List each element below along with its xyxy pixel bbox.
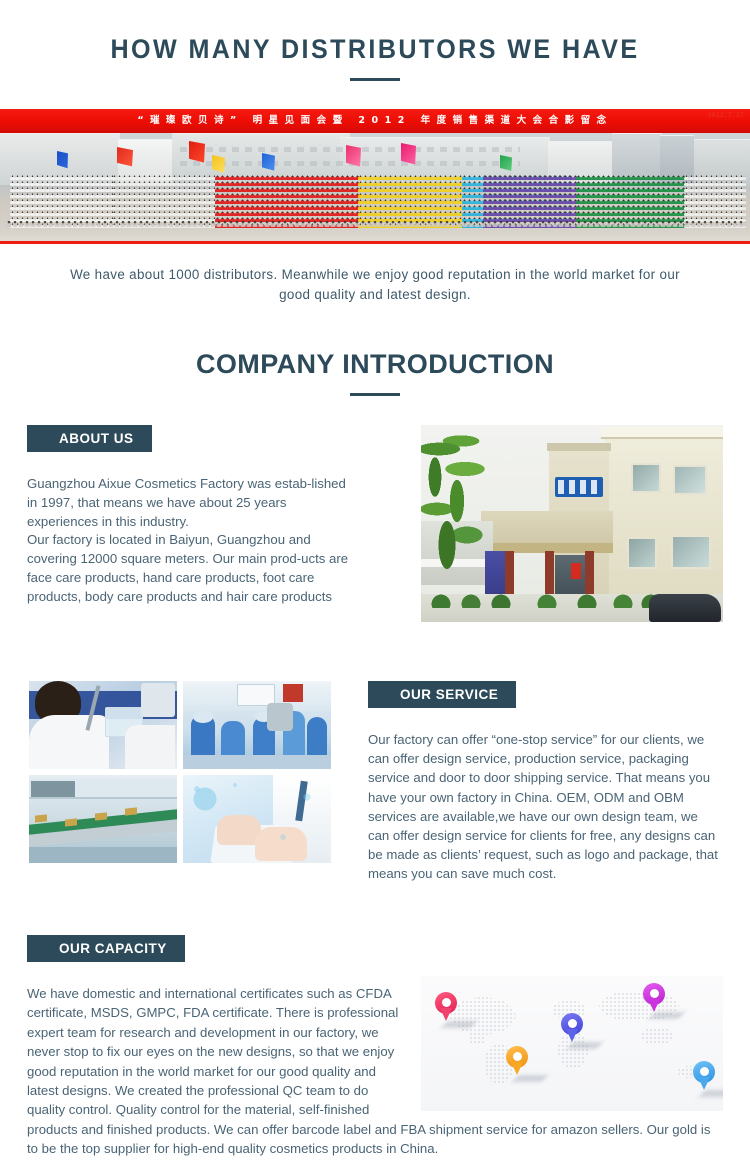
service-photo-grid [29,681,331,863]
our-service-text-column: OUR SERVICE Our factory can offer “one-s… [368,681,724,884]
banner-bottom-rule [0,241,750,244]
palm-tree [421,425,487,605]
photo-date-watermark: 2012.7.17 [708,112,744,119]
about-us-text-column: ABOUT US Guangzhou Aixue Cosmetics Facto… [0,425,400,607]
company-introduction-title: COMPANY INTRODUCTION [0,338,750,380]
our-capacity-row: OUR CAPACITY [0,935,750,1159]
our-capacity-badge: OUR CAPACITY [27,935,185,962]
distributors-group-photo: “璀璨欧贝诗” 明星见面会暨 2012 年度销售渠道大会合影留念 [0,109,750,244]
building-sign [555,477,603,497]
company-title-divider [350,393,400,396]
group-photo-image [0,133,750,244]
about-us-badge: ABOUT US [27,425,152,452]
about-us-body: Guangzhou Aixue Cosmetics Factory was es… [0,452,350,607]
factory-building-photo [421,425,723,622]
about-us-row: ABOUT US Guangzhou Aixue Cosmetics Facto… [0,425,750,633]
distributors-section-header: HOW MANY DISTRIBUTORS WE HAVE [0,0,750,81]
our-service-row: OUR SERVICE Our factory can offer “one-s… [0,681,750,913]
photo-cleanroom-workers [183,681,331,769]
banner-headline-cn: “璀璨欧贝诗” 明星见面会暨 2012 年度销售渠道大会合影留念 [0,109,750,133]
photo-researcher-keyboard [183,775,331,863]
page-title: HOW MANY DISTRIBUTORS WE HAVE [26,0,724,65]
company-section-header: COMPANY INTRODUCTION [0,305,750,396]
world-map-photo [421,976,723,1111]
our-service-badge: OUR SERVICE [368,681,516,708]
about-us-paragraph-2: Our factory is located in Baiyun, Guangz… [27,531,350,606]
distributors-caption: We have about 1000 distributors. Meanwhi… [69,244,681,305]
photo-lab-technician [29,681,177,769]
car [649,594,721,622]
title-divider [350,78,400,81]
our-service-body: Our factory can offer “one-stop service”… [368,708,720,884]
about-us-paragraph-1: Guangzhou Aixue Cosmetics Factory was es… [27,475,350,531]
photo-packaging-line [29,775,177,863]
